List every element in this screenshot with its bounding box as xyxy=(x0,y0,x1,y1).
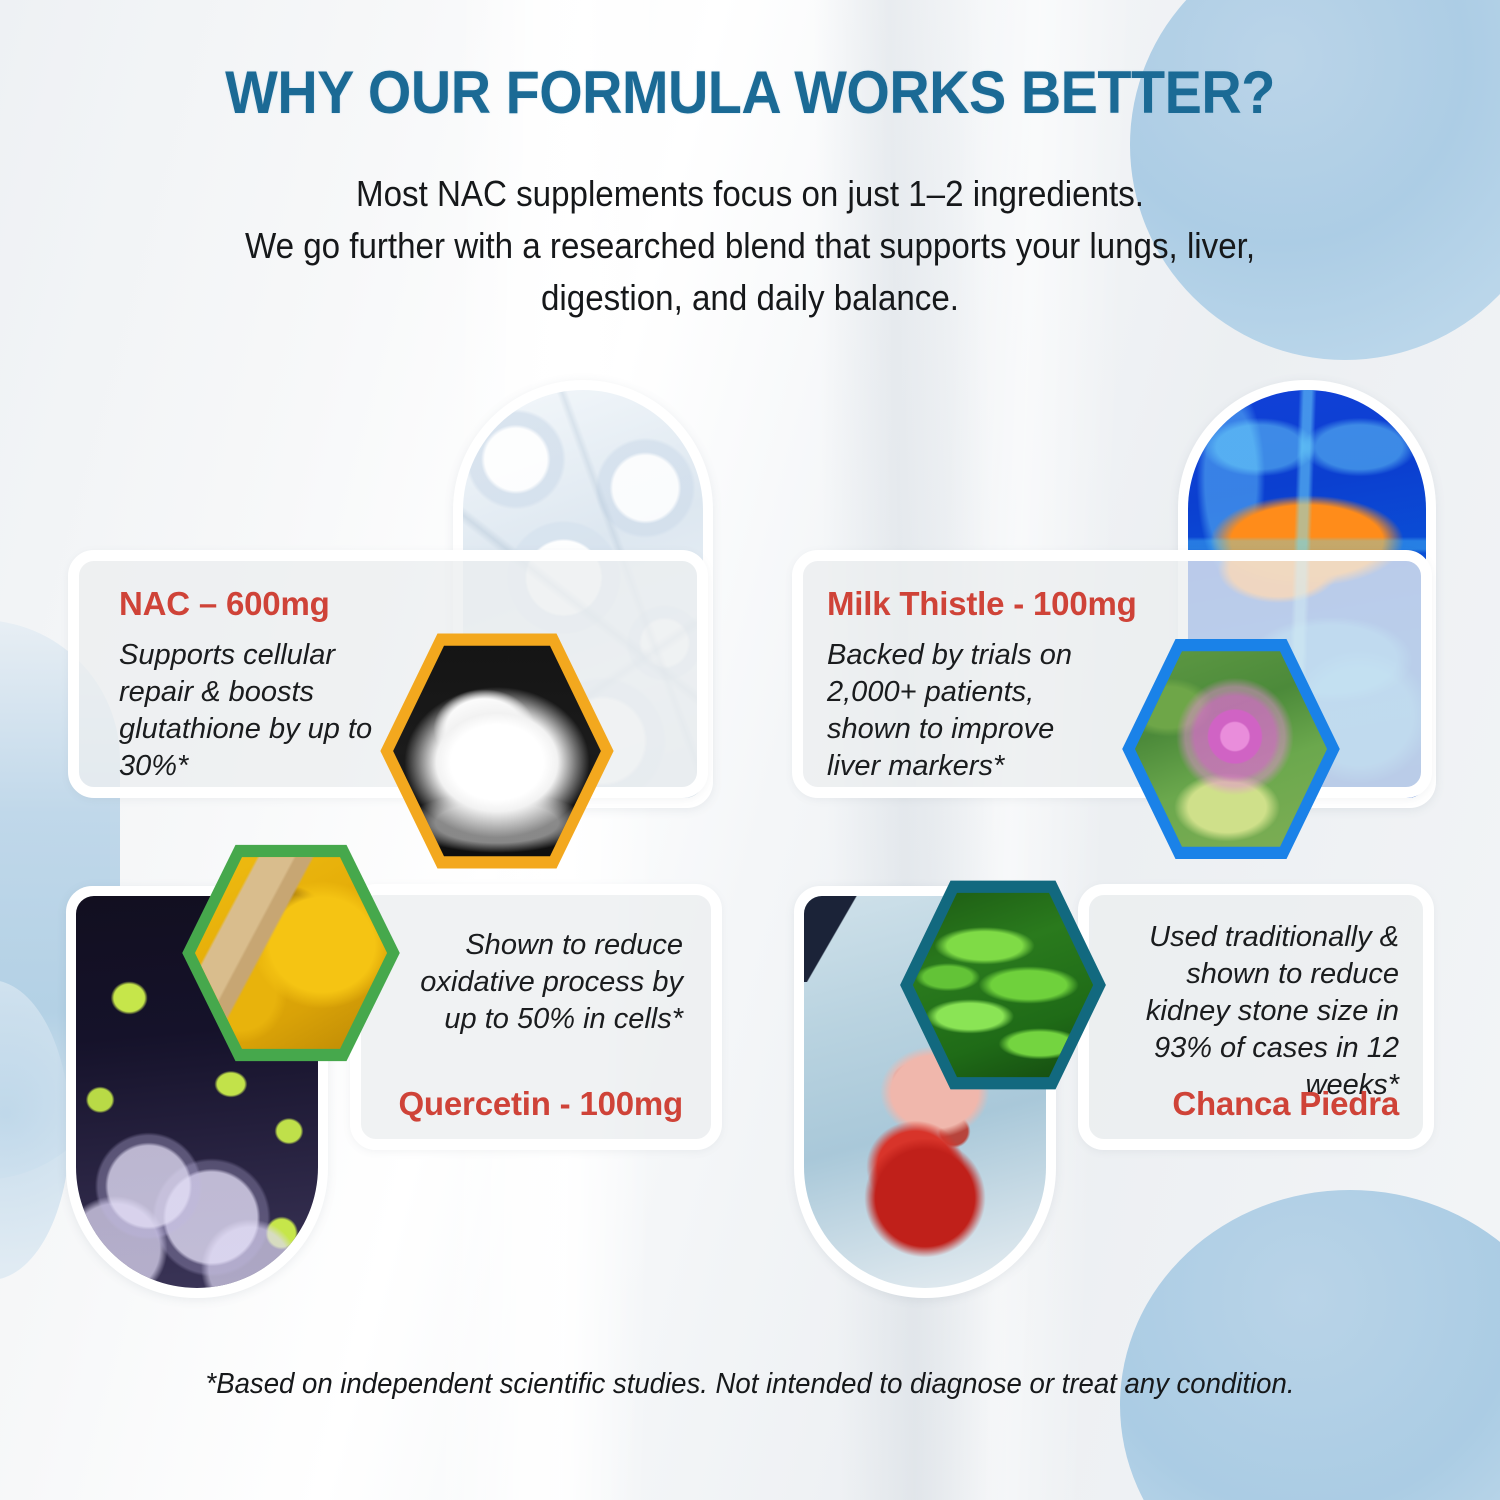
ingredient-card-milk-thistle: Milk Thistle - 100mg Backed by trials on… xyxy=(792,550,1432,798)
ingredient-card-quercetin: Shown to reduce oxidative process by up … xyxy=(350,884,722,1150)
ingredient-title-nac: NAC – 600mg xyxy=(119,585,330,623)
turmeric-powder-icon xyxy=(193,851,389,1055)
subtitle-line-1: Most NAC supplements focus on just 1–2 i… xyxy=(143,168,1357,220)
nac-powder-artwork xyxy=(391,639,603,863)
subtitle-line-2: We go further with a researched blend th… xyxy=(143,220,1357,272)
footer-disclaimer: *Based on independent scientific studies… xyxy=(95,1368,1406,1401)
page-title: WHY OUR FORMULA WORKS BETTER? xyxy=(53,58,1448,127)
ingredient-title-quercetin: Quercetin - 100mg xyxy=(398,1085,683,1123)
ingredient-body-quercetin: Shown to reduce oxidative process by up … xyxy=(403,927,683,1038)
chanca-piedra-leaf-icon xyxy=(911,887,1095,1083)
subtitle-line-3: digestion, and daily balance. xyxy=(143,272,1357,324)
page-subtitle: Most NAC supplements focus on just 1–2 i… xyxy=(143,168,1357,324)
ingredient-body-chanca-piedra: Used traditionally & shown to reduce kid… xyxy=(1113,919,1399,1104)
milk-thistle-flower-icon xyxy=(1133,645,1329,853)
ingredient-card-chanca-piedra: Used traditionally & shown to reduce kid… xyxy=(1078,884,1434,1150)
ingredient-title-chanca-piedra: Chanca Piedra xyxy=(1172,1085,1399,1123)
ingredient-body-milk-thistle: Backed by trials on 2,000+ patients, sho… xyxy=(827,637,1097,785)
turmeric-powder-artwork xyxy=(193,851,389,1055)
ingredient-title-milk-thistle: Milk Thistle - 100mg xyxy=(827,585,1137,623)
ingredient-body-nac: Supports cellular repair & boosts glutat… xyxy=(119,637,379,785)
chanca-piedra-leaf-artwork xyxy=(911,887,1095,1083)
milk-thistle-flower-artwork xyxy=(1133,645,1329,853)
nac-powder-icon xyxy=(391,639,603,863)
